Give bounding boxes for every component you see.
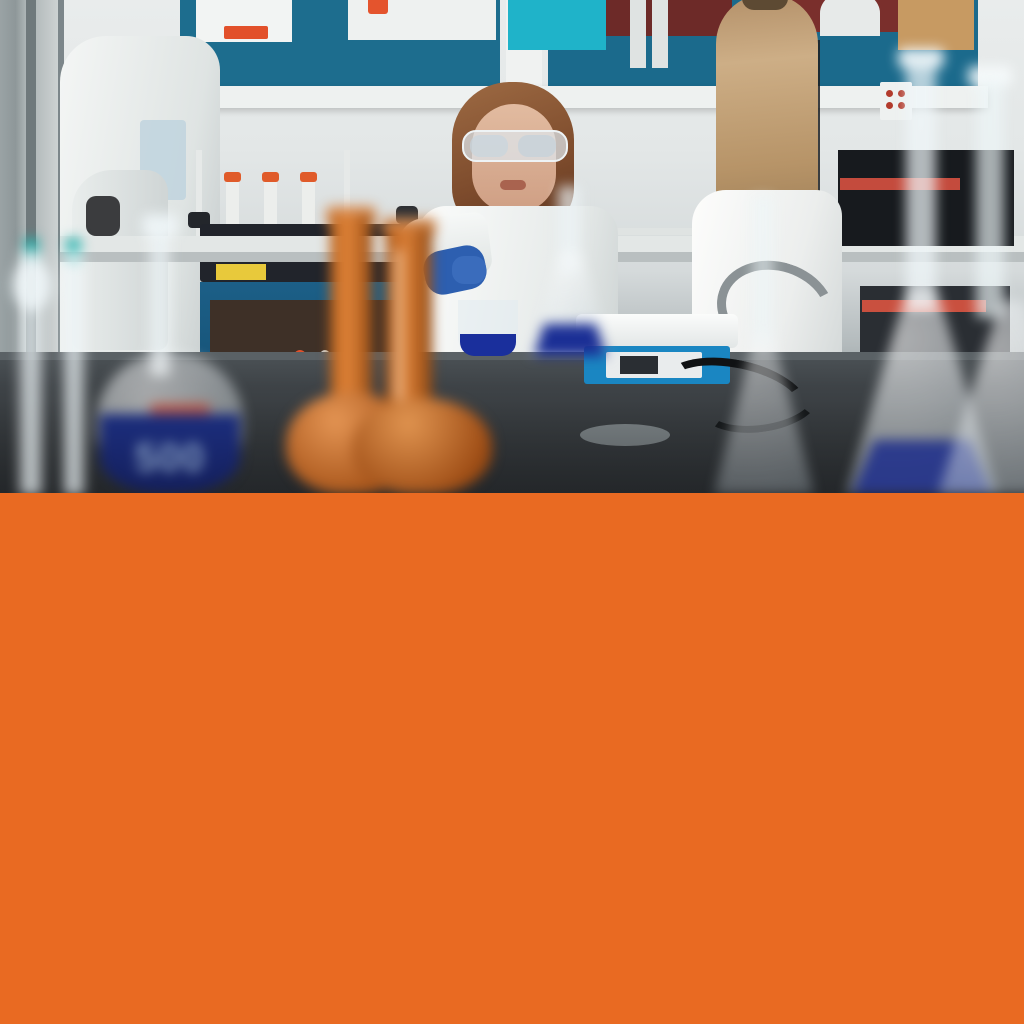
erlenmeyer-liquid	[534, 324, 606, 356]
flask-500-red-mark	[150, 404, 210, 414]
clear-flask-neck-1	[906, 60, 936, 310]
clear-flask-neck-2	[976, 78, 1004, 318]
pipette-2	[62, 250, 86, 493]
amber-flask-neck-2	[386, 228, 432, 424]
flask-500-volume-label: 500	[118, 436, 222, 481]
clear-flask-body-3	[714, 330, 814, 493]
clear-flask-neck-3	[752, 196, 774, 346]
foreground-glassware-blurred: 500	[0, 0, 1024, 493]
amber-flask-highlight	[394, 250, 403, 400]
amber-flask-body-2	[352, 398, 492, 493]
laboratory-photo: 500	[0, 0, 1024, 493]
pipette-bulb-1	[12, 258, 52, 312]
orange-message-panel: THERE IS A FINE LINE BETWEEN PASSION AND…	[0, 493, 1024, 1024]
promotional-graphic: 500 THERE IS A FINE LINE BETWEEN PASSION…	[0, 0, 1024, 1024]
